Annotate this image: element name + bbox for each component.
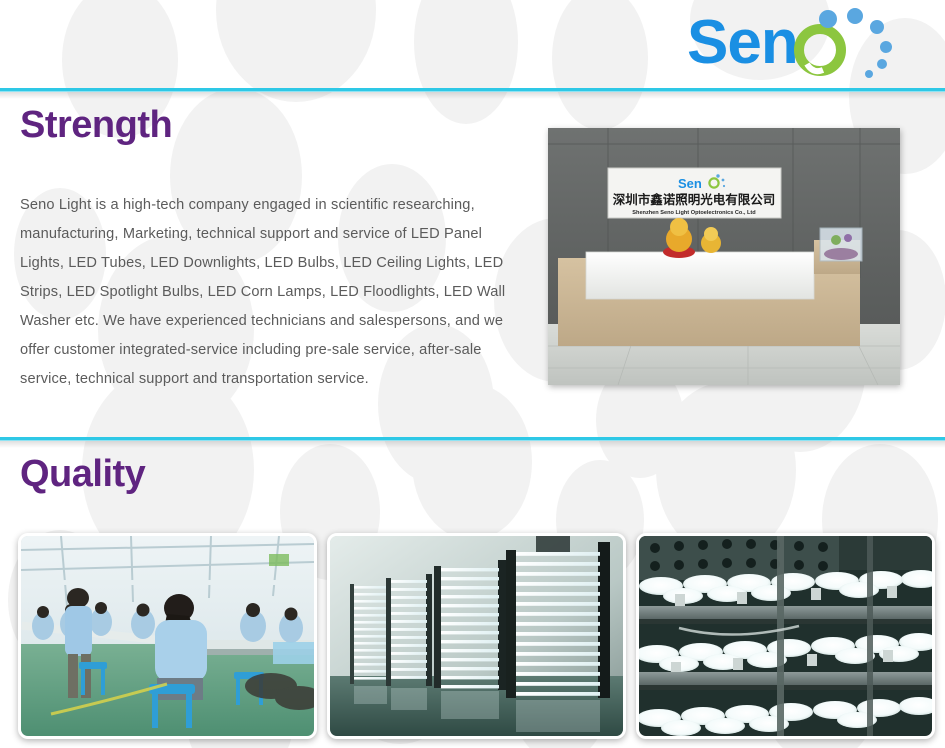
- logo-wordmark-text: Sen: [687, 8, 798, 77]
- logo-ring-o: [799, 29, 841, 71]
- divider-line: [0, 437, 945, 440]
- section-title-strength: Strength: [20, 106, 172, 144]
- led-tube-aging-rack-photo: [327, 533, 626, 739]
- tube-rack-2: [386, 574, 432, 686]
- office-reception-photo: Sen 深圳市鑫诺照明光电有限公司 Shenzhen Seno Light Op…: [548, 128, 900, 385]
- divider-shadow: [0, 92, 945, 99]
- divider-mid: [0, 437, 945, 443]
- section-title-quality: Quality: [20, 455, 145, 493]
- svg-text:Sen: Sen: [678, 176, 702, 191]
- sign-english-name: Shenzhen Seno Light Optoelectronics Co.,…: [632, 210, 756, 216]
- led-downlight-rack-photo: [636, 533, 935, 739]
- page-root: Sen Strength Seno Light is a high-tech c…: [0, 0, 945, 748]
- divider-line: [0, 88, 945, 91]
- divider-shadow: [0, 441, 945, 448]
- seno-logo[interactable]: Sen: [687, 6, 917, 80]
- sign-chinese-name: 深圳市鑫诺照明光电有限公司: [613, 192, 776, 207]
- strength-body-text: Seno Light is a high-tech company engage…: [20, 191, 520, 394]
- assembly-line-photo: [18, 533, 317, 739]
- page-header: Sen: [0, 0, 945, 88]
- divider-top: [0, 88, 945, 94]
